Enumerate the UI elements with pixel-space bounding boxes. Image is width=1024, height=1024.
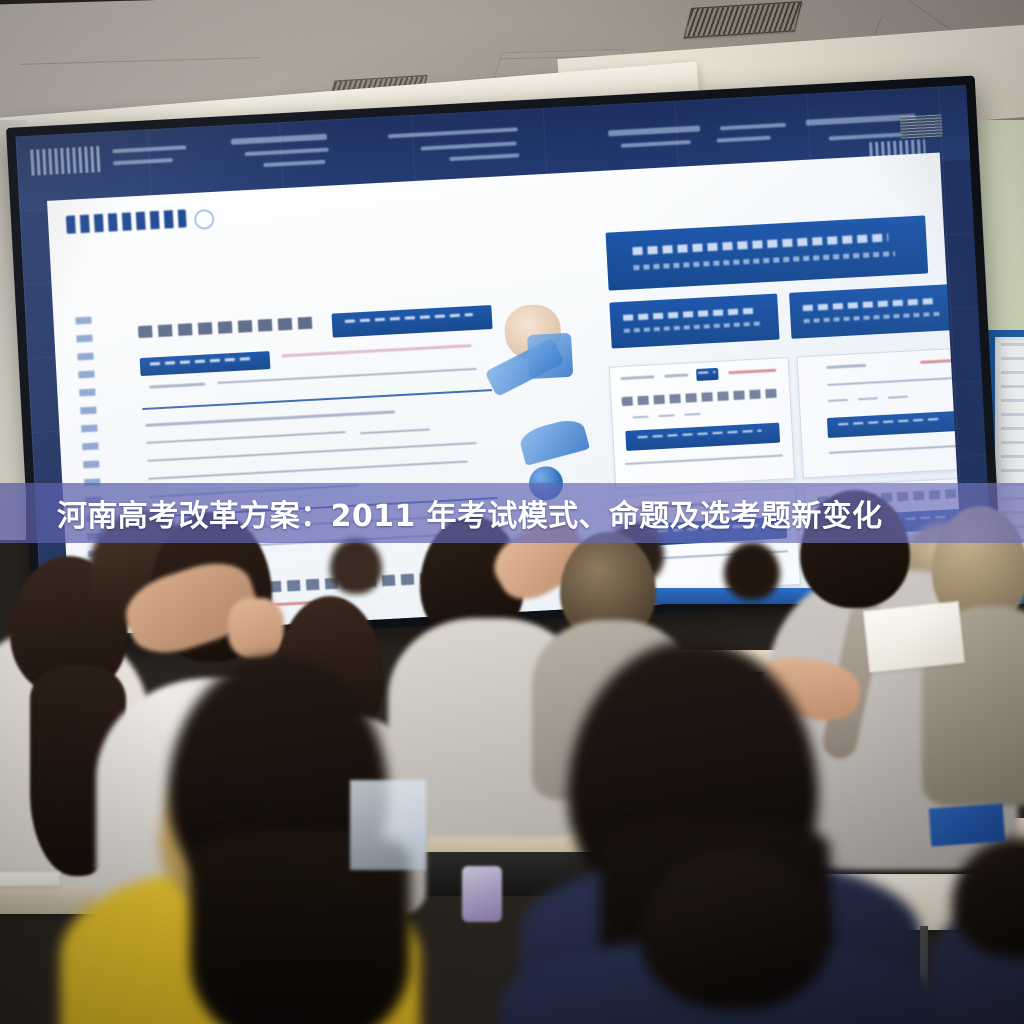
water-bottle [462,866,502,922]
slide-subtitle-bar-right [789,284,957,339]
card1-heading [621,389,777,406]
card1-line-2 [664,373,688,377]
header-text-12 [717,136,771,143]
title-overlay-band: 河南高考改革方案：2011 年考试模式、命题及选考题新变化 [0,483,1024,543]
header-text-3 [231,134,327,145]
person-back-1-head [330,538,382,594]
screenshot-root: 河南高考改革方案：2011 年考试模式、命题及选考题新变化 [0,0,1024,1024]
slide-left-line-4 [147,442,477,462]
paper-sheet-left [0,872,60,886]
header-text-6 [388,127,518,138]
card2-line-5 [858,397,878,400]
content-card-1[interactable] [609,357,795,489]
card2-line-4 [828,399,848,402]
content-card-2[interactable] [797,347,964,478]
card1-line-6 [684,413,700,416]
slide-badge-left [140,351,271,376]
card1-line-7 [625,454,783,465]
illustration-block-left [527,333,573,379]
slide-logo-mark-icon [194,209,215,230]
student-left-hand [228,598,284,658]
header-text-1 [112,145,186,153]
person-back-3-head [724,542,780,600]
open-notebook [863,601,965,673]
blue-booklet [929,803,1005,846]
card2-line-7 [829,445,961,454]
slide-left-rule-1 [142,389,492,410]
card2-line-2 [920,359,954,364]
slide-left-note-2 [217,368,477,384]
slide-left-line-1 [145,410,395,427]
slide-subtitle-bar-left [609,294,779,349]
slide-left-line-3 [360,429,430,435]
card1-line-1 [620,375,654,380]
card1-footer-bar [625,423,780,451]
card1-line-5 [658,414,674,417]
slide-left-line-2 [146,431,346,444]
slide-left-note [149,383,205,389]
header-text-2 [113,158,173,165]
card1-line-4 [633,416,649,419]
header-text-7 [421,141,517,150]
slide-logo-icon [66,209,187,233]
header-text-14 [829,133,903,141]
card1-tag [696,368,719,381]
header-text-10 [621,140,691,148]
card2-line-1 [826,364,866,369]
slide-title-bar [606,215,929,290]
screen-speaker-grill-icon [900,114,943,138]
header-text-5 [263,160,325,167]
header-text-11 [720,123,786,131]
slide-banner-left [332,305,493,338]
header-logo-block [30,146,101,176]
card1-line-3 [728,369,776,375]
card2-footer-bar [827,411,960,438]
slide-left-subtext [282,344,472,357]
page-title: 河南高考改革方案：2011 年考试模式、命题及选考题新变化 [57,491,883,535]
card2-line-3 [827,377,955,386]
audience-area [0,470,1024,1024]
slide-left-heading [138,316,318,338]
header-text-4 [245,148,329,157]
clear-plastic-bag [350,780,426,870]
header-text-9 [608,125,700,136]
header-text-8 [449,153,519,161]
illustration-shape-mid [517,416,590,466]
card2-line-6 [888,396,908,399]
